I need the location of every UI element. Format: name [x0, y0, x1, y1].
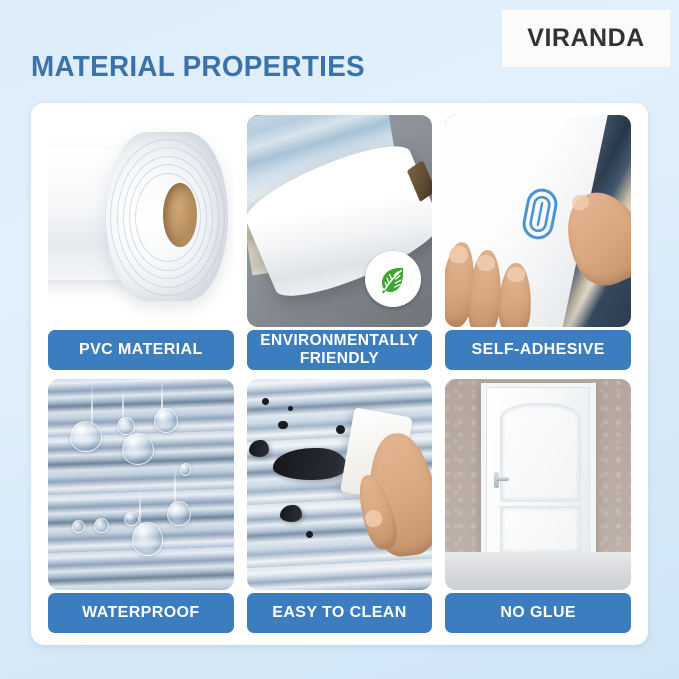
- water-drop-icon: [70, 421, 102, 453]
- feature-tile-environmentally-friendly[interactable]: ENVIRONMENTALLY FRIENDLY: [247, 115, 433, 370]
- stain-spot: [336, 425, 345, 434]
- water-drop-icon: [72, 520, 85, 533]
- brand-name: VIRANDA: [527, 24, 644, 53]
- pvc-material-image: [48, 115, 234, 327]
- features-grid: PVC MATERIAL: [48, 115, 631, 633]
- waterproof-image: [48, 379, 234, 591]
- stain-spot: [288, 406, 294, 411]
- water-trail: [174, 467, 176, 505]
- water-trail: [122, 387, 124, 421]
- fingernail: [449, 246, 468, 263]
- water-drop-icon: [167, 501, 191, 526]
- feature-tile-pvc-material[interactable]: PVC MATERIAL: [48, 115, 234, 370]
- feature-label-environmentally-friendly: ENVIRONMENTALLY FRIENDLY: [247, 330, 433, 370]
- blue-wood-texture: [247, 379, 433, 591]
- water-drop-icon: [132, 522, 164, 556]
- leaf-icon: [376, 262, 410, 296]
- door-leaf: [486, 387, 590, 558]
- no-glue-image: [445, 379, 631, 591]
- grey-backdrop: [247, 115, 433, 327]
- feature-tile-no-glue[interactable]: NO GLUE: [445, 379, 631, 634]
- stain-spot: [262, 398, 269, 405]
- feature-tile-easy-to-clean[interactable]: EASY TO CLEAN: [247, 379, 433, 634]
- self-adhesive-scene: [445, 115, 631, 327]
- feature-tile-self-adhesive[interactable]: SELF-ADHESIVE: [445, 115, 631, 370]
- door-panel-upper: [500, 403, 581, 501]
- stain-smear: [280, 505, 302, 522]
- brand-badge: VIRANDA: [502, 10, 670, 67]
- features-card: PVC MATERIAL: [31, 103, 648, 645]
- easy-to-clean-image: [247, 379, 433, 591]
- pvc-roll-shape: [106, 132, 229, 301]
- skirting-board: [445, 552, 631, 590]
- pvc-roll-icon: [48, 115, 234, 327]
- water-drop-icon: [180, 463, 191, 476]
- door-frame: [481, 383, 596, 561]
- feature-tile-waterproof[interactable]: WATERPROOF: [48, 379, 234, 634]
- page-title: MATERIAL PROPERTIES: [31, 51, 365, 84]
- self-adhesive-image: [445, 115, 631, 327]
- water-drop-icon: [154, 408, 178, 433]
- water-drop-icon: [94, 518, 109, 533]
- stain-spot: [306, 531, 313, 538]
- feature-label-waterproof: WATERPROOF: [48, 593, 234, 633]
- water-drop-icon: [122, 433, 154, 465]
- feature-label-self-adhesive: SELF-ADHESIVE: [445, 330, 631, 370]
- eco-leaf-badge: [365, 251, 421, 307]
- water-drop-icon: [124, 512, 139, 527]
- feature-label-easy-to-clean: EASY TO CLEAN: [247, 593, 433, 633]
- wall-right: [590, 379, 631, 552]
- door-panel-lower: [500, 506, 581, 554]
- feature-label-no-glue: NO GLUE: [445, 593, 631, 633]
- environmentally-friendly-image: [247, 115, 433, 327]
- door-icon: [445, 379, 631, 591]
- blue-wood-texture: [48, 379, 234, 591]
- fingernail: [507, 267, 526, 282]
- stain-smear: [273, 448, 347, 480]
- feature-label-pvc-material: PVC MATERIAL: [48, 330, 234, 370]
- door-handle-lever[interactable]: [496, 477, 508, 481]
- stain-spot: [278, 421, 287, 429]
- infographic-page: VIRANDA MATERIAL PROPERTIES: [0, 0, 679, 679]
- stain-smear: [249, 440, 269, 457]
